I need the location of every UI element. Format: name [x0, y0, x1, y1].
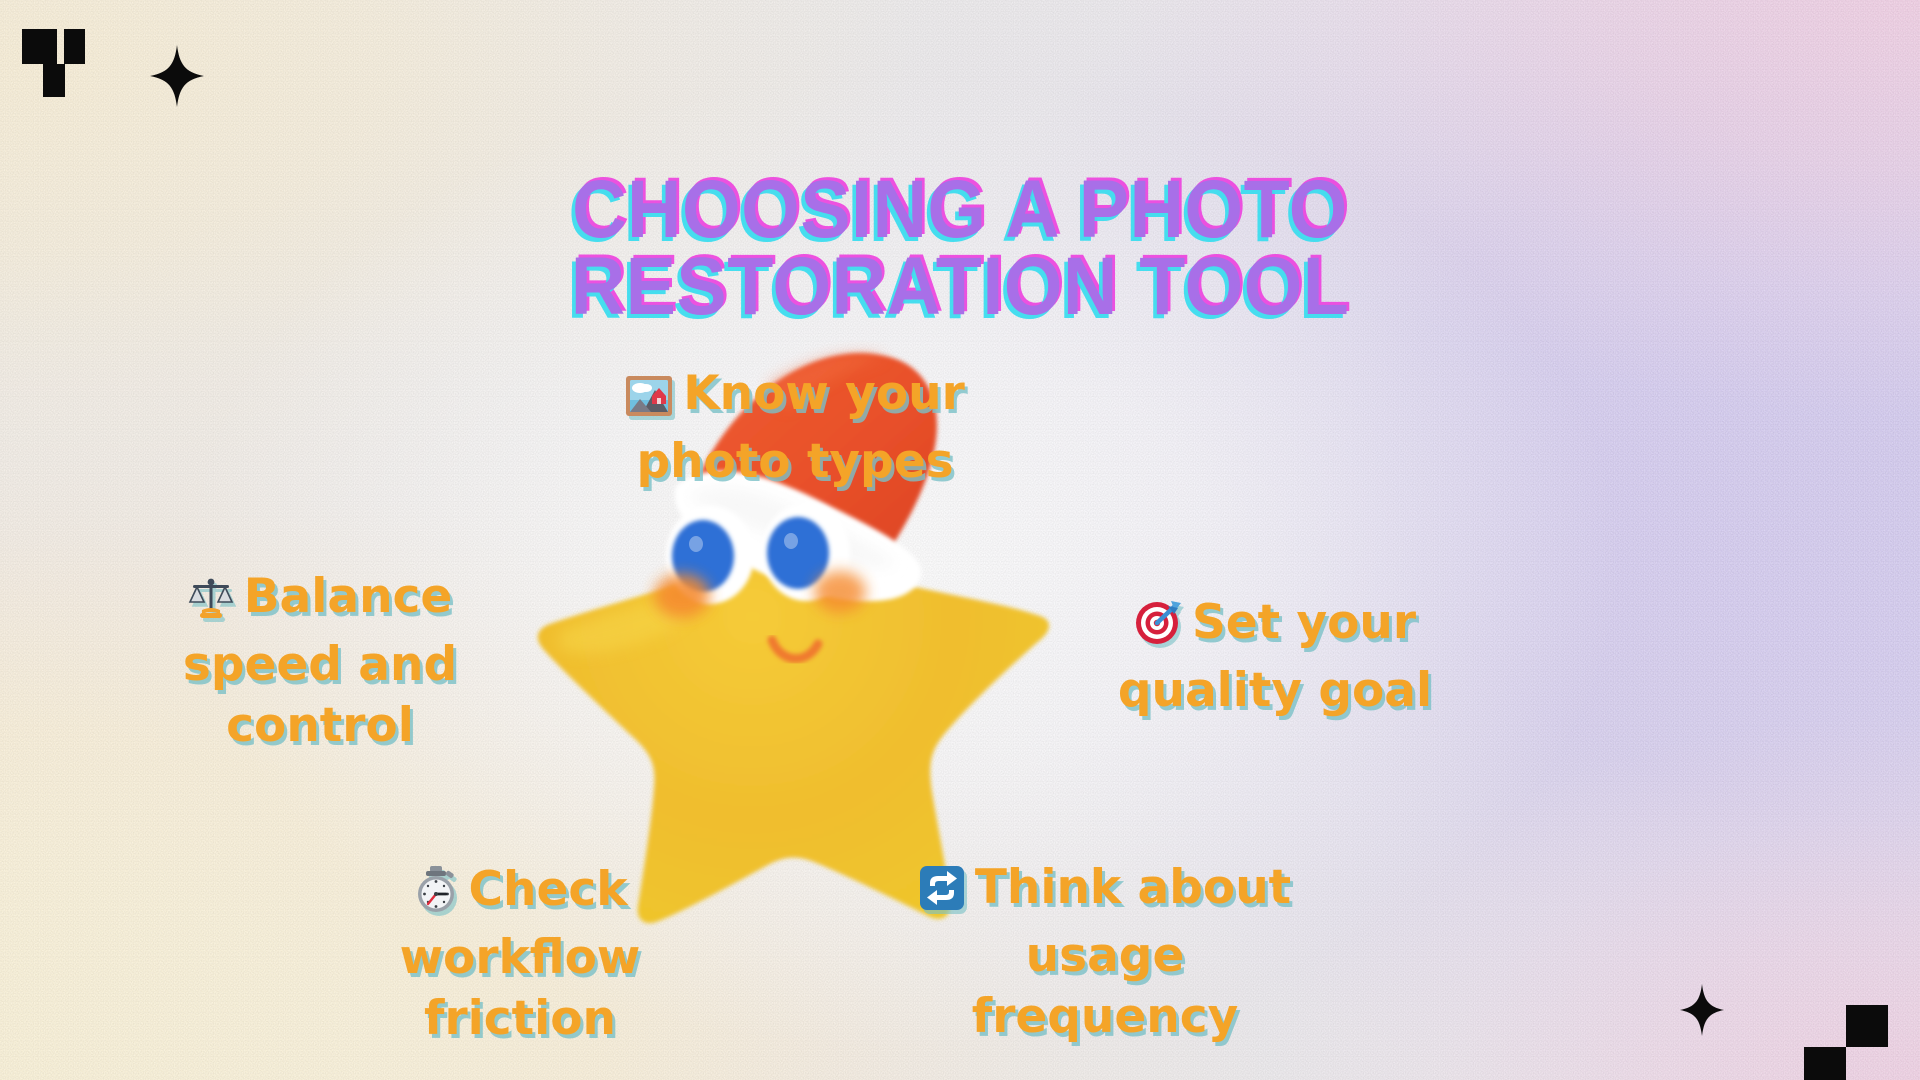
callout-label-text: Think about usage frequency [972, 860, 1291, 1043]
stopwatch-icon [413, 805, 459, 928]
framed-picture-icon [625, 312, 673, 432]
callout-set-your-quality-goal: Set your quality goal [1055, 478, 1495, 722]
balance-scale-icon [188, 515, 234, 635]
deco-square-gap [1804, 1005, 1846, 1047]
deco-square [1804, 1047, 1846, 1080]
deco-square [22, 29, 57, 64]
sparkle-icon-top-left [150, 45, 204, 107]
repeat-arrows-icon [919, 805, 965, 926]
target-dart-icon [1134, 538, 1182, 661]
callout-check-workflow-friction: Check workflow friction [300, 745, 740, 1049]
slide-canvas: CHOOSING A PHOTO RESTORATION TOOL Know y… [0, 0, 1920, 1080]
callout-label-text: Know your photo types [636, 366, 964, 489]
callout-think-about-usage-frequency: Think about usage frequency [905, 745, 1305, 1047]
callout-balance-speed-and-control: Balance speed and control [120, 455, 520, 756]
callout-know-your-photo-types: Know your photo types [560, 252, 1030, 493]
deco-square [64, 29, 85, 64]
deco-square-gap [1846, 1047, 1888, 1080]
deco-square [1846, 1005, 1888, 1047]
sparkle-icon-bottom-right [1680, 984, 1724, 1036]
deco-square [43, 64, 65, 97]
deco-square-gap [1762, 1005, 1804, 1047]
